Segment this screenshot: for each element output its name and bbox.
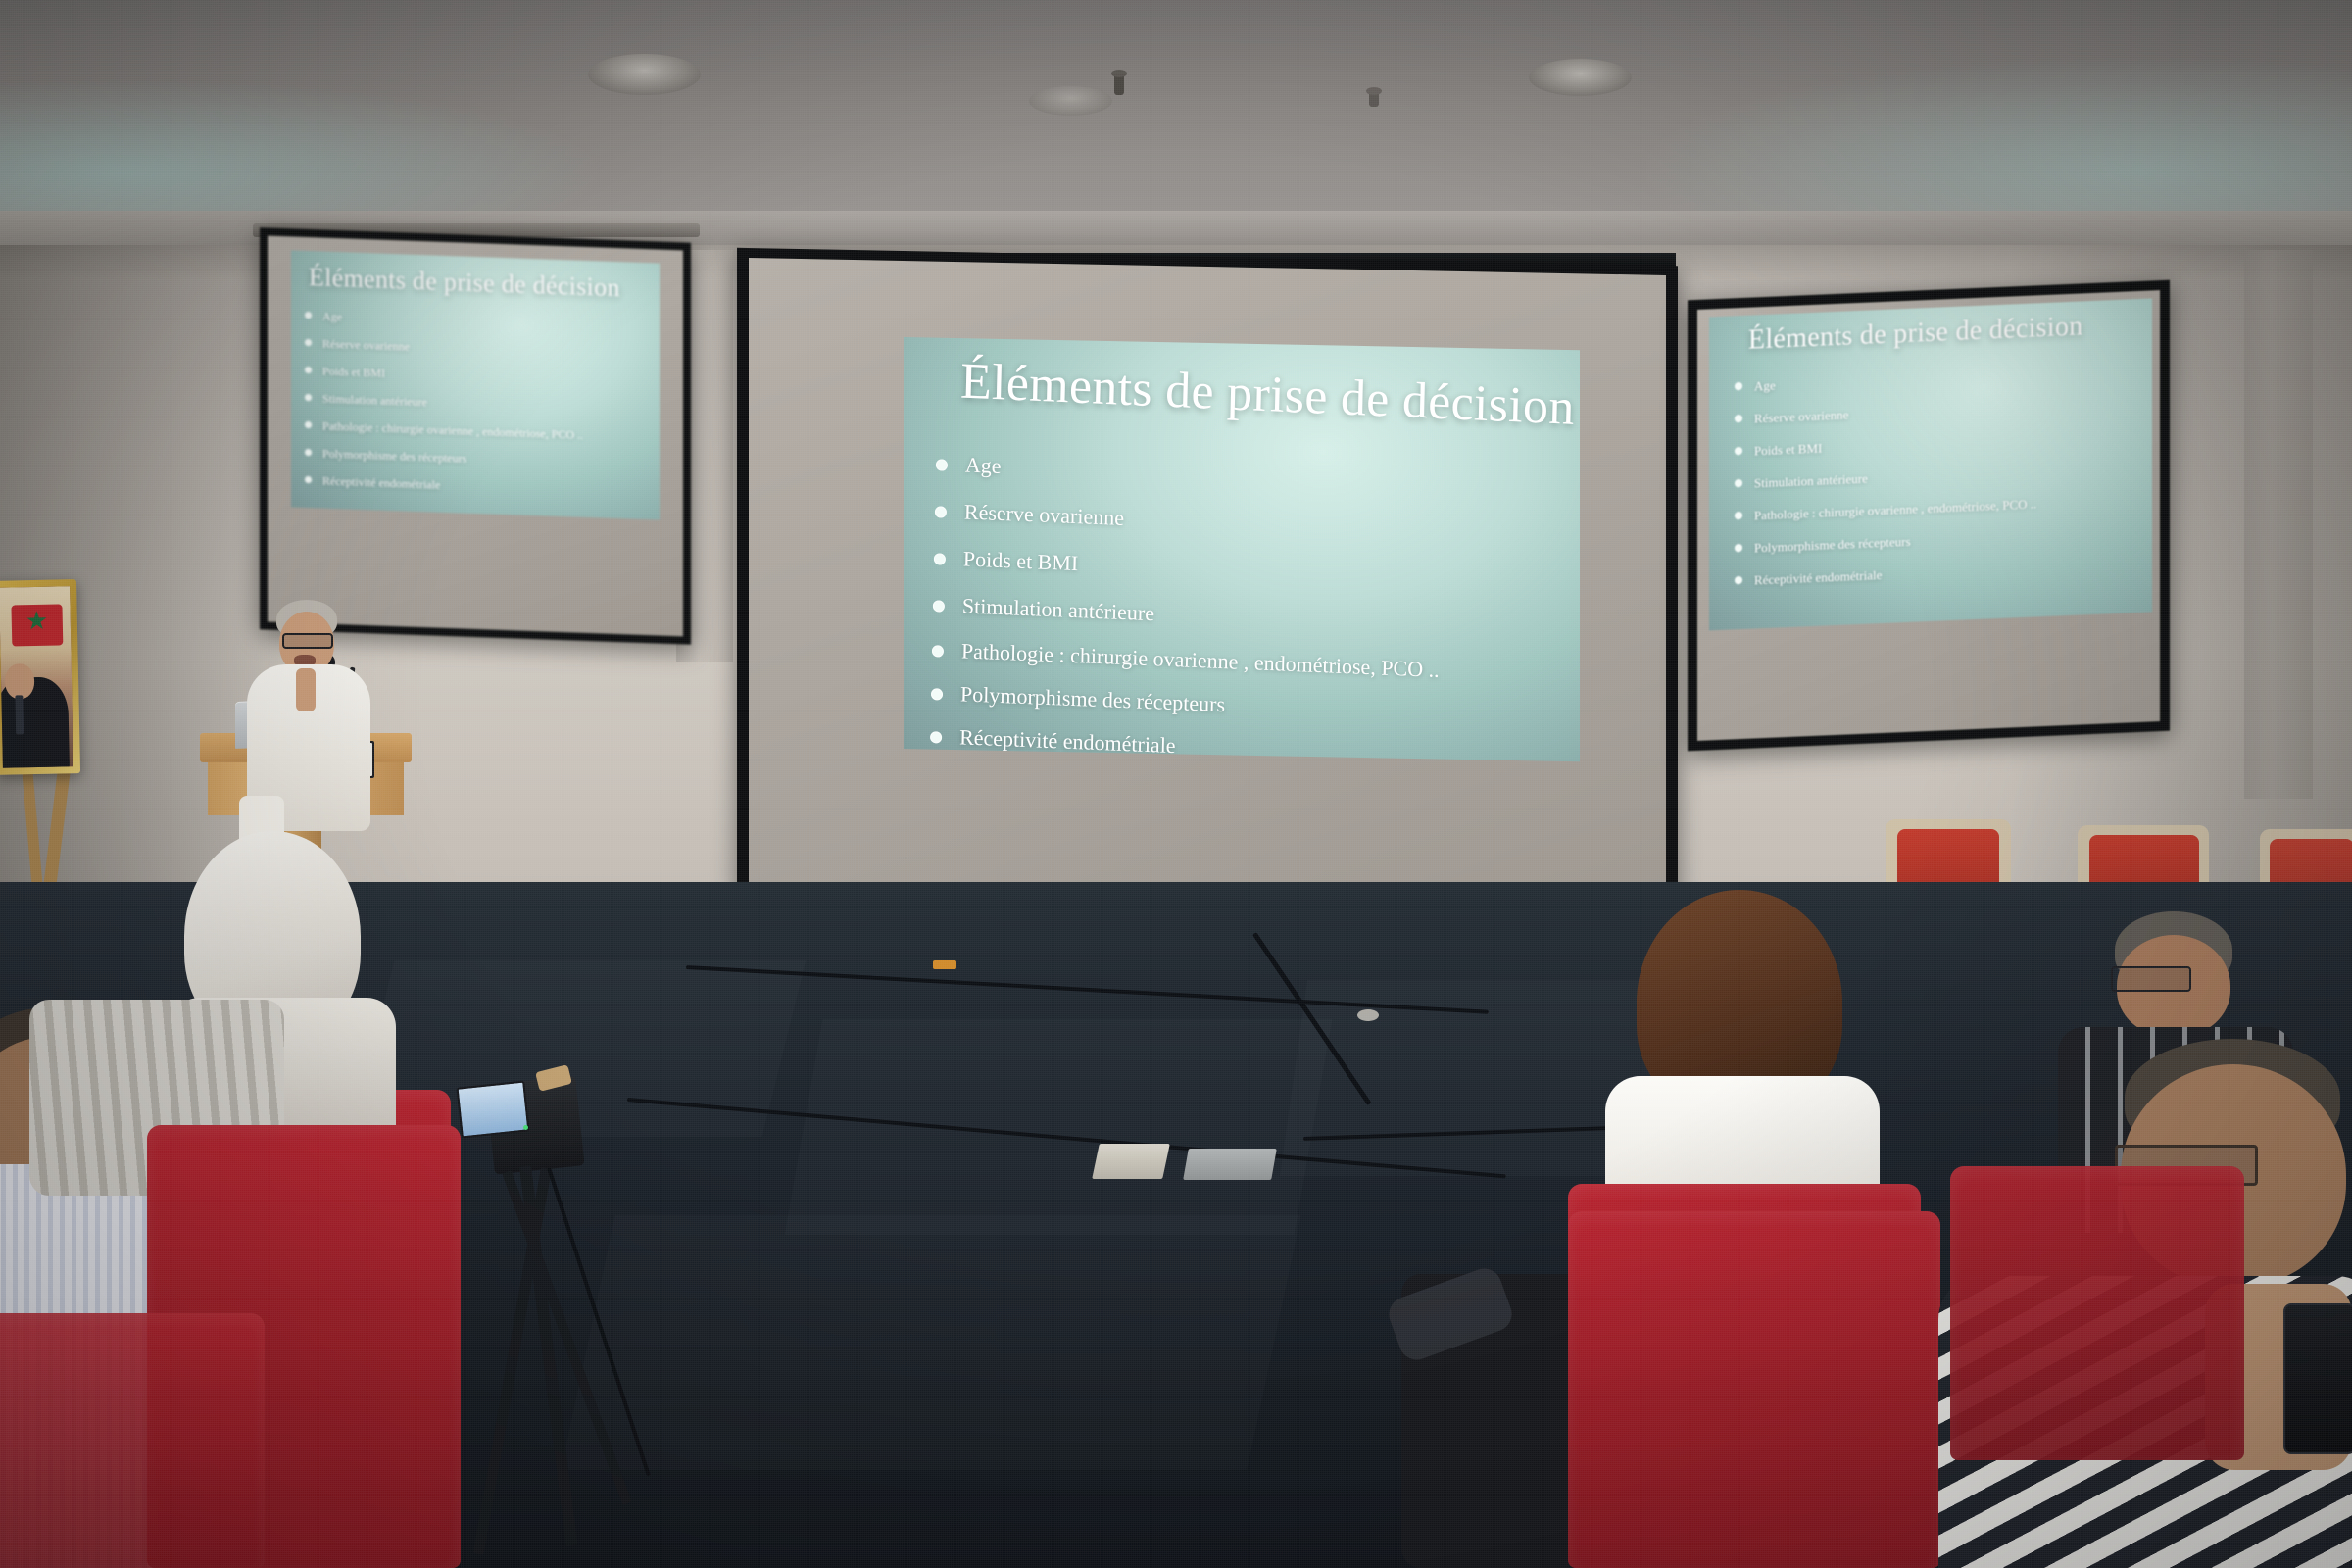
- sprinkler-head-icon: [1369, 91, 1379, 107]
- bullet-icon: [305, 476, 312, 483]
- portrait-subject-face: [5, 663, 35, 700]
- ceiling-downlight: [1029, 86, 1112, 116]
- conference-room-photo: Éléments de prise de décision Age Réserv…: [0, 0, 2352, 1568]
- slide-right: Éléments de prise de décision Age Réserv…: [1709, 298, 2152, 630]
- screen-surface-left: Éléments de prise de décision Age Réserv…: [268, 236, 683, 637]
- presenter-glasses-icon: [282, 633, 333, 649]
- attendee-glasses-icon: [2111, 966, 2191, 992]
- bullet-icon: [305, 421, 312, 428]
- slide-title: Éléments de prise de décision: [959, 353, 1575, 437]
- screen-surface-right: Éléments de prise de décision Age Réserv…: [1697, 290, 2160, 741]
- audience-chair: [1568, 1211, 1940, 1568]
- slide-bullet-list: Age Réserve ovarienne Poids et BMI Stimu…: [930, 440, 1444, 761]
- bullet-icon: [305, 312, 312, 318]
- floor-cable-cover: [1092, 1144, 1170, 1179]
- royal-portrait-image: ★: [0, 586, 73, 767]
- projection-screen-center: Éléments de prise de décision Age Réserv…: [737, 248, 1678, 912]
- attendee-phone: [2283, 1303, 2352, 1454]
- audience-chair: [0, 1313, 265, 1568]
- bullet-icon: [305, 449, 312, 456]
- screen-surface-center: Éléments de prise de décision Age Réserv…: [749, 258, 1666, 903]
- floor-cable-cover: [1183, 1149, 1277, 1180]
- carpet-tile: [785, 1019, 1333, 1235]
- camera-lcd-screen: [456, 1080, 529, 1138]
- slide-center: Éléments de prise de décision Age Réserv…: [904, 337, 1580, 761]
- sprinkler-head-icon: [1114, 73, 1124, 95]
- bullet-icon: [305, 394, 312, 401]
- presenter-neck: [296, 668, 316, 711]
- slide-bullet-list: Age Réserve ovarienne Poids et BMI Stimu…: [305, 302, 583, 504]
- royal-portrait-frame: ★: [0, 579, 80, 775]
- ceiling-downlight: [588, 54, 701, 95]
- projection-screen-right: Éléments de prise de décision Age Réserv…: [1688, 280, 2170, 752]
- carpet-tile: [561, 1215, 1300, 1470]
- bullet-icon: [305, 339, 312, 346]
- floor-marker-tape: [933, 960, 956, 969]
- slide-left: Éléments de prise de décision Age Réserv…: [291, 250, 660, 519]
- bullet-icon: [305, 367, 312, 373]
- projection-screen-left: Éléments de prise de décision Age Réserv…: [260, 227, 691, 644]
- ceiling-downlight: [1529, 59, 1632, 96]
- floor-marker: [1357, 1009, 1379, 1021]
- audience-chair: [1950, 1166, 2244, 1460]
- slide-bullet-list: Age Réserve ovarienne Poids et BMI Stimu…: [1735, 358, 2036, 597]
- camera-record-led-icon: [523, 1125, 528, 1130]
- slide-title: Éléments de prise de décision: [1748, 311, 2083, 356]
- flag-star-icon: ★: [25, 609, 49, 634]
- slide-title: Éléments de prise de décision: [309, 263, 620, 303]
